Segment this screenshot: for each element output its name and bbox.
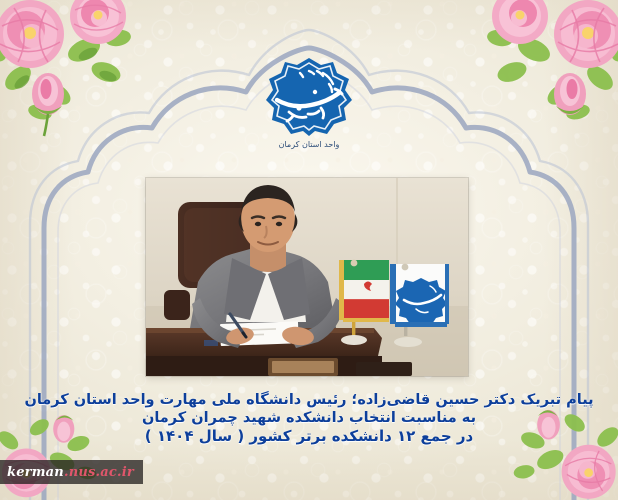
caption-line-3: در جمع ۱۲ دانشکده برتر کشور ( سال ۱۴۰۴ ) — [18, 427, 600, 445]
site-watermark: kerman .nus.ac.ir — [0, 460, 143, 484]
university-logo-icon — [263, 56, 355, 136]
caption-line-2: به مناسبت انتخاب دانشکده شهید چمران کرما… — [18, 410, 600, 428]
watermark-domain: .nus.ac.ir — [64, 465, 134, 480]
watermark-site-name: kerman — [7, 465, 64, 480]
caption-line-1: پیام تبریک دکتر حسین قاضی‌زاده؛ رئیس دان… — [18, 392, 600, 410]
poster-canvas: واحد استان کرمان — [0, 0, 618, 500]
logo-block: واحد استان کرمان — [0, 56, 618, 149]
caption-block: پیام تبریک دکتر حسین قاضی‌زاده؛ رئیس دان… — [18, 392, 600, 446]
logo-subtitle: واحد استان کرمان — [0, 140, 618, 149]
president-photo — [146, 178, 468, 376]
